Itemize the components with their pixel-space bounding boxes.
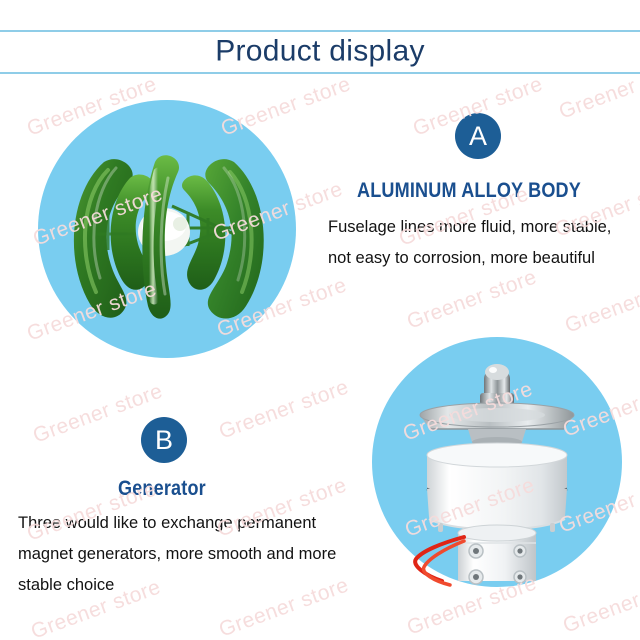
feature-body-a: Fuselage lines more fluid, more stable, … — [328, 212, 638, 274]
feature-heading-a: ALUMINUM ALLOY BODY — [357, 179, 581, 203]
turbine-photo-circle — [38, 100, 296, 358]
watermark-text: Greener store — [404, 265, 540, 334]
watermark-text: Greener store — [216, 375, 352, 444]
feature-heading-b: Generator — [118, 477, 206, 501]
page-header-band: Product display — [0, 30, 640, 74]
permanent-magnet-generator-illustration — [372, 337, 622, 587]
generator-photo-circle — [372, 337, 622, 587]
green-wind-turbine-illustration — [38, 100, 296, 358]
product-display-page: Product display A ALUMINUM ALLOY BODY Fu… — [0, 0, 640, 640]
page-title: Product display — [0, 34, 640, 68]
watermark-text: Greener store — [562, 269, 640, 338]
feature-badge-b: B — [141, 417, 187, 463]
feature-body-b: Three would like to exchange permanent m… — [18, 508, 358, 601]
feature-badge-a: A — [455, 113, 501, 159]
